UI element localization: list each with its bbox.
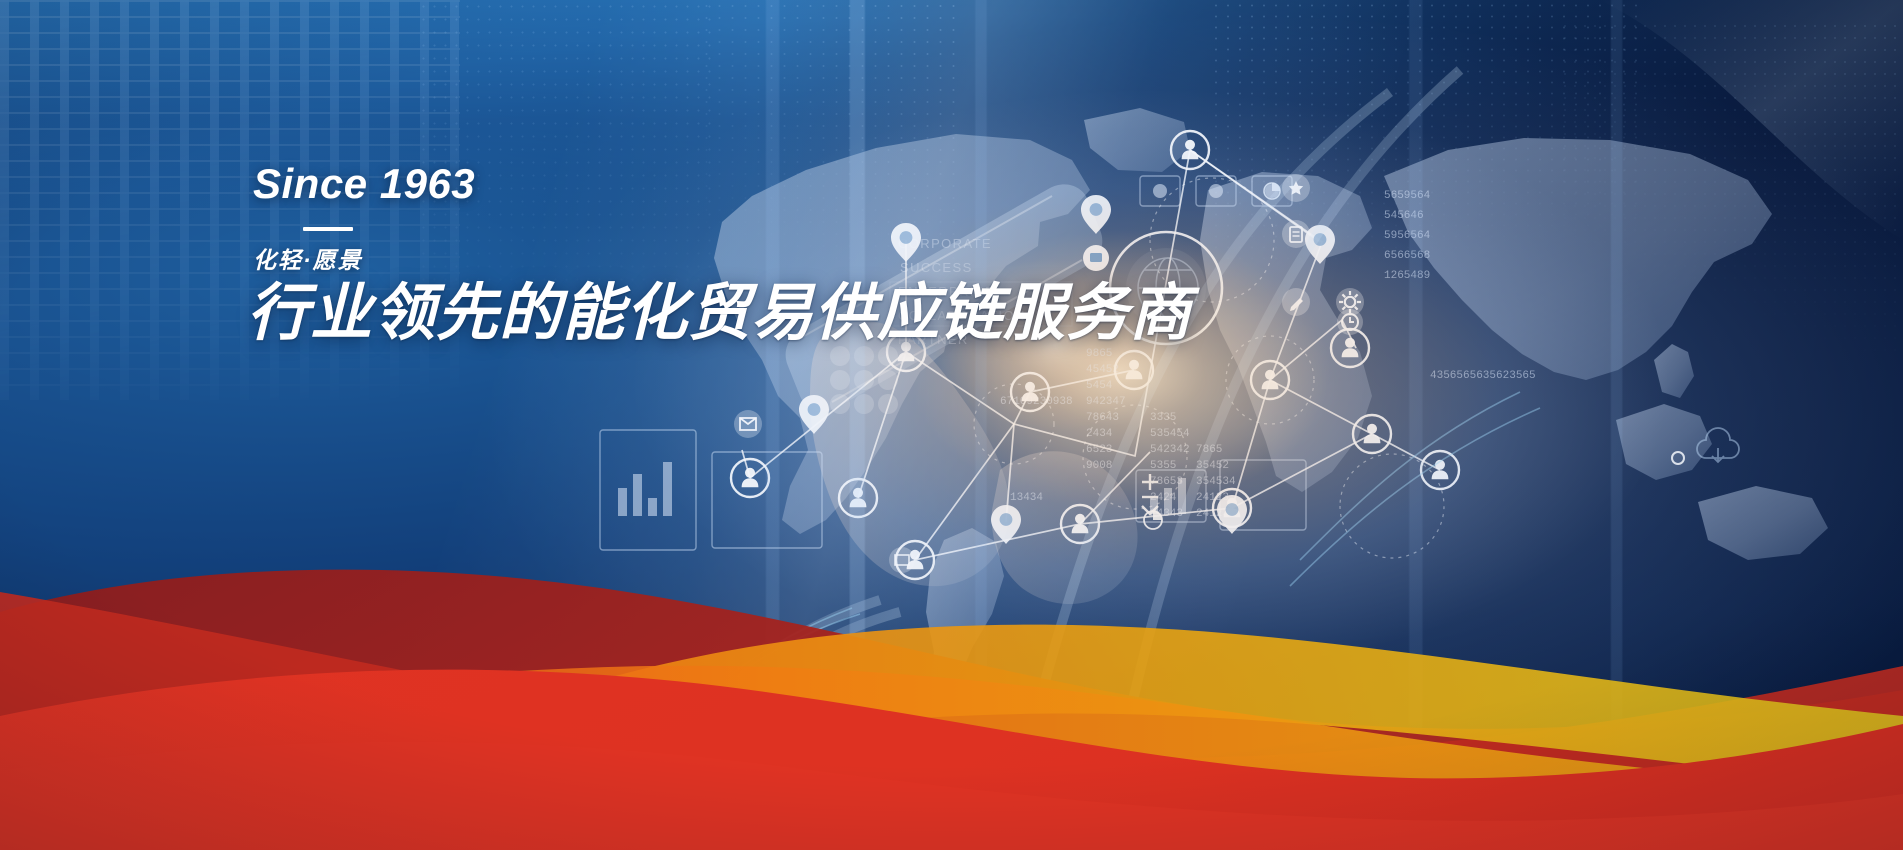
edge-vignette (0, 0, 1903, 850)
hero-banner: CORPORATE SUCCESS ENTERPRISE COLLABORATI… (0, 0, 1903, 850)
